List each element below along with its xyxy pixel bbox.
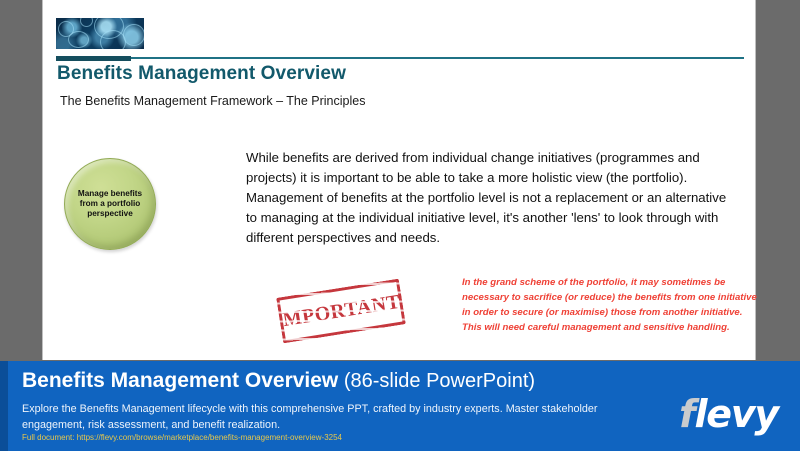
banner-description: Explore the Benefits Management lifecycl… [22, 402, 602, 433]
slide-subtitle: The Benefits Management Framework – The … [60, 94, 365, 108]
important-stamp-label: IMPORTANT! [273, 289, 409, 333]
circle-decor-icon [68, 31, 89, 48]
header-rule-thin [56, 57, 744, 59]
circle-decor-icon [80, 18, 93, 27]
flevy-logo-levy: levy [694, 392, 778, 436]
flevy-logo[interactable]: flevy [679, 395, 778, 433]
slide-body-paragraph: While benefits are derived from individu… [246, 148, 729, 248]
important-stamp: IMPORTANT! [276, 279, 406, 344]
slide-title: Benefits Management Overview [57, 63, 346, 85]
circle-decor-icon [123, 24, 144, 46]
screenshot-root: Benefits Management Overview The Benefit… [0, 0, 800, 451]
banner-title-main: Benefits Management Overview [22, 369, 338, 392]
banner-title-suffix: (86-slide PowerPoint) [338, 370, 535, 392]
slide-canvas: Benefits Management Overview The Benefit… [42, 0, 756, 360]
banner-document-url[interactable]: Full document: https://flevy.com/browse/… [22, 433, 342, 442]
header-rule-accent [56, 56, 131, 61]
flevy-promo-banner: Benefits Management Overview (86-slide P… [0, 361, 800, 451]
portfolio-circle-label: Manage benefits from a portfolio perspec… [74, 189, 146, 219]
important-note-text: In the grand scheme of the portfolio, it… [462, 276, 762, 335]
banner-title: Benefits Management Overview (86-slide P… [22, 369, 535, 393]
portfolio-perspective-circle: Manage benefits from a portfolio perspec… [64, 158, 156, 250]
flevy-logo-f: f [679, 392, 694, 436]
important-stamp-border: IMPORTANT! [276, 279, 406, 344]
header-banner-image [56, 18, 144, 49]
banner-left-edge [0, 361, 8, 451]
